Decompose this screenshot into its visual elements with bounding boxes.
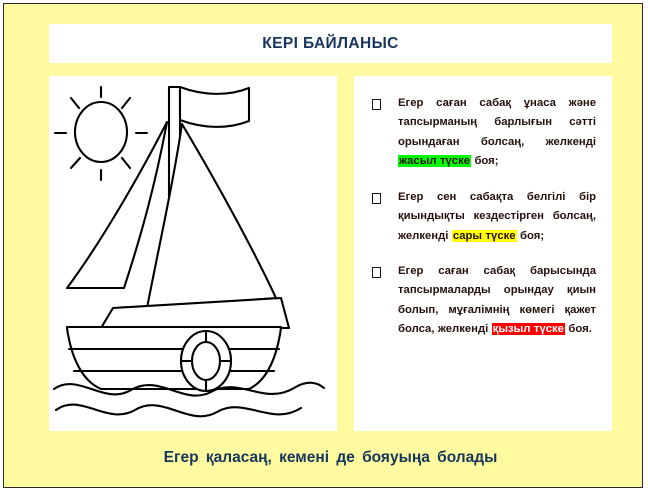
instruction-1-before: Егер саған сабақ ұнаса және тапсырманың …	[398, 97, 596, 148]
illustration-panel	[49, 76, 337, 431]
instruction-3-highlight: қызыл түске	[492, 323, 565, 335]
instruction-3-after: боя.	[565, 323, 592, 335]
instruction-text-3: Егер саған сабақ барысында тапсырмаларды…	[398, 262, 596, 340]
sailboat-icon	[49, 76, 337, 431]
footer-bar: Егер қаласаң, кемені де бояуыңа болады	[49, 441, 612, 475]
list-item: Егер сен сабақта белгілі бір қиындықты к…	[372, 188, 596, 246]
title-bar: КЕРІ БАЙЛАНЫС	[49, 24, 612, 63]
instruction-2-highlight: сары түске	[452, 230, 517, 242]
jib-sail	[67, 122, 167, 288]
sail-lower-panel	[101, 298, 289, 328]
slide-canvas: КЕРІ БАЙЛАНЫС	[3, 3, 643, 488]
hull	[67, 327, 281, 389]
instruction-2-after: боя;	[517, 230, 545, 242]
checkbox-square-icon	[372, 99, 381, 110]
main-sail	[147, 124, 276, 308]
footer-text: Егер қаласаң, кемені де бояуыңа болады	[164, 449, 498, 467]
instruction-1-highlight: жасыл түске	[398, 155, 471, 167]
instructions-panel: Егер саған сабақ ұнаса және тапсырманың …	[354, 76, 612, 431]
instruction-text-1: Егер саған сабақ ұнаса және тапсырманың …	[398, 94, 596, 172]
checkbox-square-icon	[372, 193, 381, 204]
list-item: Егер саған сабақ барысында тапсырмаларды…	[372, 262, 596, 340]
life-ring-inner	[192, 342, 220, 380]
instruction-1-after: боя;	[471, 155, 499, 167]
checkbox-square-icon	[372, 267, 381, 278]
flag	[180, 87, 249, 127]
list-item: Егер саған сабақ ұнаса және тапсырманың …	[372, 94, 596, 172]
sun-icon	[75, 102, 127, 162]
page-title: КЕРІ БАЙЛАНЫС	[262, 35, 398, 53]
instruction-text-2: Егер сен сабақта белгілі бір қиындықты к…	[398, 188, 596, 246]
